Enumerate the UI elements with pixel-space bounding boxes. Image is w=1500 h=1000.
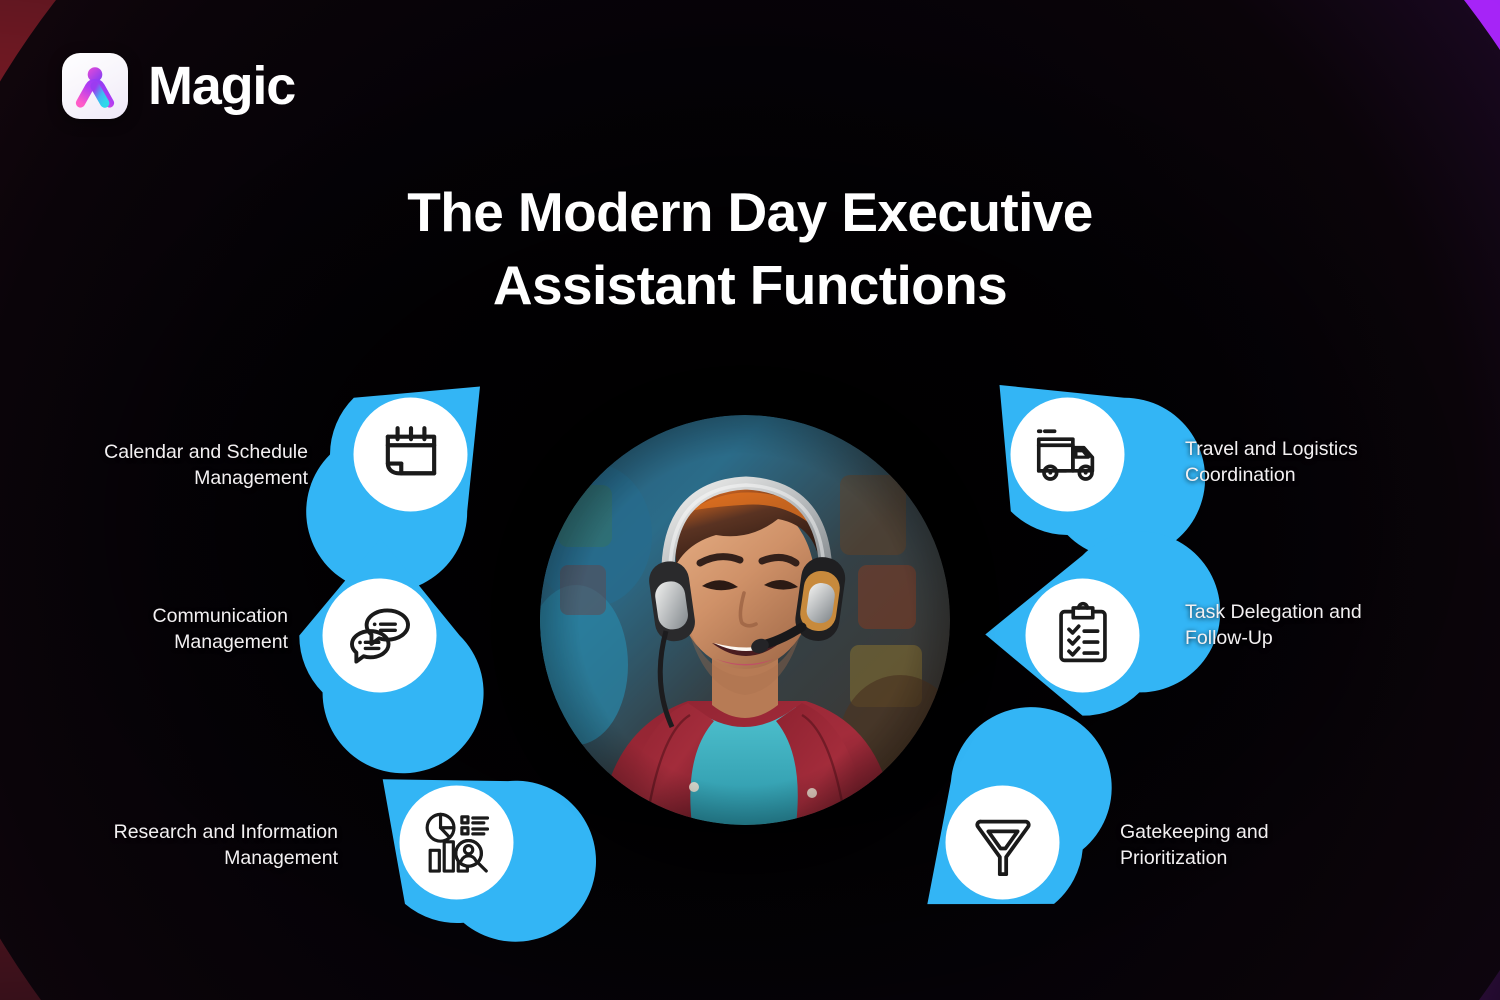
node-calendar-and-schedule-management[interactable]: [328, 372, 493, 537]
label-line-1: Gatekeeping and: [1120, 820, 1420, 846]
label-line-2: Management: [0, 630, 288, 656]
node-research-and-information-management[interactable]: [374, 760, 539, 925]
label-gatekeeping-and-prioritization: Gatekeeping and Prioritization: [1120, 820, 1420, 871]
label-communication-management: Communication Management: [0, 604, 288, 655]
node-task-delegation-and-follow-up[interactable]: [1000, 553, 1165, 718]
chat-bubbles-icon: [341, 597, 419, 675]
label-line-1: Research and Information: [38, 820, 338, 846]
clipboard-checklist-icon: [1044, 597, 1122, 675]
node-travel-and-logistics-coordination[interactable]: [985, 372, 1150, 537]
headset-agent-photo: [540, 415, 950, 825]
node-communication-management[interactable]: [297, 553, 462, 718]
label-task-delegation-and-follow-up: Task Delegation and Follow-Up: [1185, 600, 1485, 651]
label-line-1: Calendar and Schedule: [8, 440, 308, 466]
magic-m-logo-icon: [62, 53, 128, 119]
label-line-2: Prioritization: [1120, 846, 1420, 872]
center-hero-photo: [540, 415, 950, 825]
analytics-search-icon: [418, 804, 496, 882]
label-line-2: Management: [38, 846, 338, 872]
page-title-line-2: Assistant Functions: [0, 249, 1500, 322]
label-research-and-information-management: Research and Information Management: [38, 820, 338, 871]
delivery-truck-icon: [1029, 416, 1107, 494]
label-travel-and-logistics-coordination: Travel and Logistics Coordination: [1185, 437, 1485, 488]
node-gatekeeping-and-prioritization[interactable]: [920, 760, 1085, 925]
label-line-2: Management: [8, 466, 308, 492]
calendar-icon: [372, 416, 450, 494]
funnel-icon: [964, 804, 1042, 882]
label-calendar-and-schedule-management: Calendar and Schedule Management: [8, 440, 308, 491]
page-title-line-1: The Modern Day Executive: [407, 181, 1093, 243]
label-line-1: Communication: [0, 604, 288, 630]
label-line-1: Travel and Logistics: [1185, 437, 1485, 463]
label-line-2: Coordination: [1185, 463, 1485, 489]
brand-name: Magic: [148, 59, 295, 113]
label-line-2: Follow-Up: [1185, 626, 1485, 652]
page-title: The Modern Day Executive Assistant Funct…: [0, 176, 1500, 322]
label-line-1: Task Delegation and: [1185, 600, 1485, 626]
brand-logo[interactable]: Magic: [62, 53, 295, 119]
